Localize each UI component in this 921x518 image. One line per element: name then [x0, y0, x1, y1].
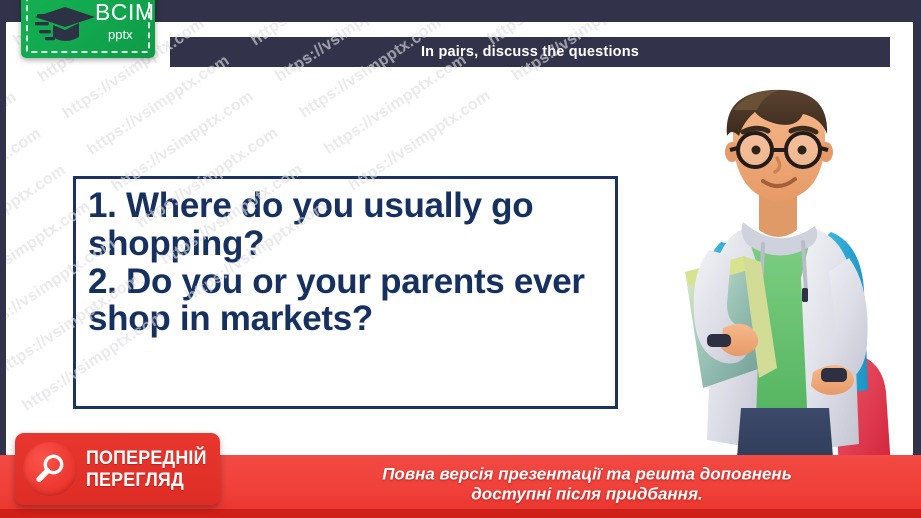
banner-message: Повна версія презентації та решта доповн…: [275, 464, 899, 504]
question-box: 1. Where do you usually go shopping? 2. …: [73, 176, 618, 409]
preview-badge[interactable]: ПОПЕРЕДНІЙ ПЕРЕГЛЯД: [15, 433, 220, 505]
graduation-cap-icon: [35, 3, 97, 47]
banner-bottom-stripe: [0, 509, 921, 518]
preview-badge-text: ПОПЕРЕДНІЙ ПЕРЕГЛЯД: [86, 449, 214, 490]
preview-badge-line2: ПЕРЕГЛЯД: [86, 471, 207, 490]
page-title: In pairs, discuss the questions: [421, 44, 639, 60]
logo-secondary-text: pptx: [108, 28, 155, 41]
slide-title-bar: In pairs, discuss the questions: [170, 37, 890, 67]
bcim-pptx-logo: BCIM pptx: [21, 0, 155, 58]
logo-primary-text: BCIM: [95, 1, 155, 24]
magnifier-icon-circle: [23, 442, 77, 496]
magnifier-icon: [33, 452, 67, 486]
watermark-text: https://vsimpptx.com: [6, 124, 44, 232]
logo-text: BCIM pptx: [95, 1, 155, 41]
watermark-text: https://vsimpptx.com: [6, 88, 20, 196]
watermark-text: https://vsimpptx.com: [84, 51, 232, 159]
preview-badge-line1: ПОПЕРЕДНІЙ: [86, 449, 207, 468]
slide-frame: https://vsimpptx.comhttps://vsimpptx.com…: [0, 0, 921, 518]
student-character-illustration: [663, 82, 913, 482]
watermark-text: https://vsimpptx.com: [6, 161, 69, 269]
question-text: 1. Where do you usually go shopping? 2. …: [88, 187, 605, 338]
watch-right: [821, 368, 847, 382]
watch-left: [707, 334, 731, 347]
